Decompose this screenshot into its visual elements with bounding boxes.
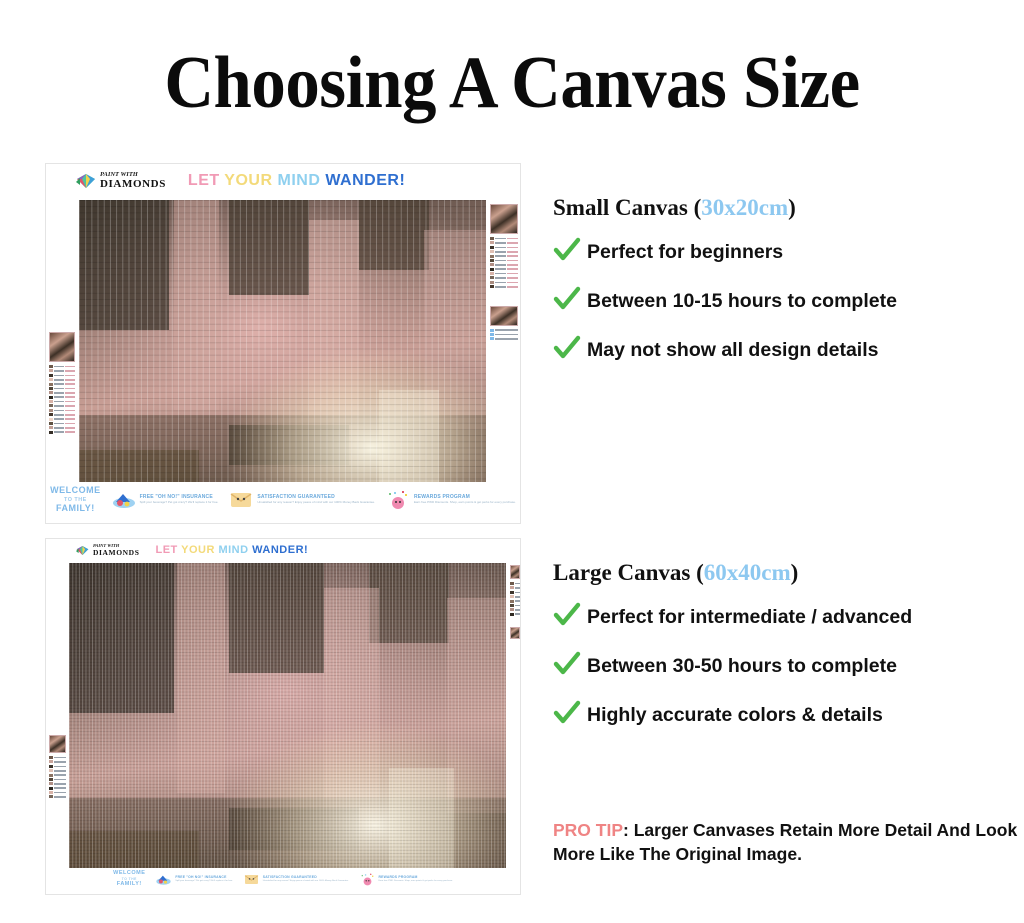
welcome-end: FAMILY! [117,881,142,887]
check-icon [553,335,587,366]
page-title: Choosing A Canvas Size [36,44,988,122]
badge-sub: Spill your beverage? Pet got crazy? We'l… [175,880,232,883]
brand-text: PAINT WITH DIAMONDS [100,172,166,190]
welcome-small: TO THE [50,497,101,504]
list-item: Between 10-15 hours to complete [553,286,1023,317]
slogan: LET YOUR MIND WANDER! [155,544,308,556]
legend-row [490,237,518,240]
color-legend-right [490,204,518,342]
heading-dimensions: 60x40cm [704,560,791,585]
list-item: Between 30-50 hours to complete [553,651,1023,682]
badge-sub: Earn free PWD Discounts. Shop, earn poin… [414,501,516,504]
original-image-thumbnail [510,565,520,579]
check-icon [553,700,587,731]
badge-rewards: REWARDS PROGRAM Earn free PWD Discounts.… [385,490,516,510]
slogan-word-1: LET [155,544,177,556]
badge-guarantee: SATISFACTION GUARANTEED Unsatisfied for … [243,873,349,886]
legend-row [490,329,518,332]
mosaic-grid-overlay [79,200,486,482]
color-legend-left [49,735,66,800]
legend-row [490,337,518,340]
legend-row [49,782,66,785]
heading-close: ) [788,195,796,220]
pro-tip-separator: : [623,820,634,840]
brand-text: PAINT WITH DIAMONDS [93,544,139,556]
badge-rewards: REWARDS PROGRAM Earn free PWD Discounts.… [359,873,453,886]
legend-row [490,272,518,275]
scan-thumbnail [510,627,520,639]
slogan-word-3: MIND [218,544,248,556]
legend-row [490,281,518,284]
brand-lockup: PAINT WITH DIAMONDS [76,172,166,190]
legend-row [510,586,520,589]
envelope-icon [243,873,260,886]
color-legend-left [49,332,75,435]
legend-row [490,259,518,262]
original-image-thumbnail [49,735,66,753]
original-image-thumbnail [490,204,518,234]
badge-sub: Unsatisfied for any reason? Enjoy peace … [257,501,375,504]
legend-row [49,369,75,372]
legend-row [49,383,75,386]
legend-row [49,391,75,394]
badge-guarantee: SATISFACTION GUARANTEED Unsatisfied for … [228,490,375,510]
slogan-word-2: YOUR [224,172,272,189]
legend-row [510,600,520,603]
legend-rows [49,365,75,434]
badge-sub: Earn free PWD Discounts. Shop, earn poin… [379,880,453,883]
slogan-word-1: LET [188,172,220,189]
confetti-icon [385,490,411,510]
check-icon [553,286,587,317]
bullet-text: May not show all design details [587,339,878,362]
badge-text: REWARDS PROGRAM Earn free PWD Discounts.… [414,495,516,504]
legend-row [49,791,66,794]
legend-row [49,400,75,403]
check-icon [553,651,587,682]
confetti-icon [359,873,376,886]
slogan-word-3: MIND [277,172,320,189]
small-canvas-preview: PAINT WITH DIAMONDS LET YOUR MIND WANDER… [45,163,521,524]
legend-row [510,582,520,585]
bullet-text: Perfect for beginners [587,241,783,264]
legend-row [490,250,518,253]
original-image-thumbnail [49,332,75,362]
legend-row [49,418,75,421]
mosaic-grid-overlay [69,563,506,868]
welcome-message: WELCOME TO THE FAMILY! [50,485,101,514]
legend-row [490,263,518,266]
heading-close: ) [791,560,799,585]
spilled-drink-icon [155,873,172,886]
diamond-icon [76,173,96,189]
canvas-header: PAINT WITH DIAMONDS LET YOUR MIND WANDER… [46,164,520,198]
scan-thumbnail [490,306,518,326]
color-legend-right [510,565,520,639]
badge-insurance: FREE "OH NO!" INSURANCE Spill your bever… [155,873,232,886]
legend-row [49,413,75,416]
pro-tip: PRO TIP: Larger Canvases Retain More Det… [553,818,1023,866]
legend-rows [510,582,520,616]
brand-line2: DIAMONDS [100,179,166,190]
bullet-text: Between 30-50 hours to complete [587,655,897,678]
legend-row [490,333,518,336]
trust-badge-row: WELCOME TO THE FAMILY! FREE "OH NO!" INS… [46,477,520,523]
legend-row [490,241,518,244]
spilled-drink-icon [111,490,137,510]
brand-line2: DIAMONDS [93,549,139,557]
legend-row [49,795,66,798]
legend-row [49,365,75,368]
list-item: Highly accurate colors & details [553,700,1023,731]
small-canvas-heading: Small Canvas (30x20cm) [553,195,1023,221]
welcome-main: WELCOME [113,870,145,876]
bullet-text: Highly accurate colors & details [587,704,883,727]
check-icon [553,602,587,633]
welcome-main: WELCOME [50,485,101,495]
list-item: Perfect for beginners [553,237,1023,268]
legend-row [49,760,66,763]
legend-row [510,595,520,598]
envelope-icon [228,490,254,510]
legend-row [49,778,66,781]
legend-row [49,387,75,390]
legend-row [49,404,75,407]
legend-row [49,374,75,377]
slogan-word-4: WANDER! [325,172,405,189]
pro-tip-tag: PRO TIP [553,820,623,840]
legend-row [510,608,520,611]
slogan-word-2: YOUR [181,544,215,556]
badge-text: FREE "OH NO!" INSURANCE Spill your bever… [140,495,219,504]
list-item: Perfect for intermediate / advanced [553,602,1023,633]
legend-row [490,276,518,279]
badge-text: SATISFACTION GUARANTEED Unsatisfied for … [263,876,349,882]
legend-row [49,378,75,381]
diamond-icon [76,545,89,556]
legend-row [490,268,518,271]
badge-text: REWARDS PROGRAM Earn free PWD Discounts.… [379,876,453,882]
badge-text: FREE "OH NO!" INSURANCE Spill your bever… [175,876,232,882]
legend-row [49,431,75,434]
slogan-word-4: WANDER! [252,544,308,556]
legend-rows [49,756,66,799]
legend-rows-secondary [490,329,518,341]
check-icon [553,237,587,268]
legend-row [49,409,75,412]
legend-row [49,769,66,772]
welcome-message: WELCOME TO THE FAMILY! [113,870,145,888]
legend-row [49,422,75,425]
slogan: LET YOUR MIND WANDER! [188,172,405,190]
large-canvas-info: Large Canvas (60x40cm) Perfect for inter… [553,560,1023,749]
list-item: May not show all design details [553,335,1023,366]
legend-row [49,765,66,768]
mosaic-artwork-large [69,563,506,868]
legend-row [510,591,520,594]
legend-row [49,426,75,429]
legend-row [490,285,518,288]
trust-badge-row: WELCOME TO THE FAMILY! FREE "OH NO!" INS… [46,864,520,894]
heading-dimensions: 30x20cm [701,195,788,220]
legend-row [49,787,66,790]
legend-row [490,246,518,249]
badge-text: SATISFACTION GUARANTEED Unsatisfied for … [257,495,375,504]
legend-row [49,774,66,777]
bullet-text: Perfect for intermediate / advanced [587,606,912,629]
brand-lockup: PAINT WITH DIAMONDS [76,544,139,556]
mosaic-artwork-small [79,200,486,482]
legend-row [510,604,520,607]
legend-row [49,396,75,399]
large-canvas-heading: Large Canvas (60x40cm) [553,560,1023,586]
badge-sub: Unsatisfied for any reason? Enjoy peace … [263,880,349,883]
legend-row [490,255,518,258]
legend-rows [490,237,518,288]
canvas-header: PAINT WITH DIAMONDS LET YOUR MIND WANDER… [46,539,520,561]
welcome-end: FAMILY! [56,503,95,513]
legend-row [510,613,520,616]
heading-label: Small Canvas ( [553,195,701,220]
bullet-text: Between 10-15 hours to complete [587,290,897,313]
small-canvas-info: Small Canvas (30x20cm) Perfect for begin… [553,195,1023,384]
large-canvas-preview: PAINT WITH DIAMONDS LET YOUR MIND WANDER… [45,538,521,895]
badge-insurance: FREE "OH NO!" INSURANCE Spill your bever… [111,490,219,510]
heading-label: Large Canvas ( [553,560,704,585]
badge-sub: Spill your beverage? Pet got crazy? We'l… [140,501,219,504]
legend-row [49,756,66,759]
